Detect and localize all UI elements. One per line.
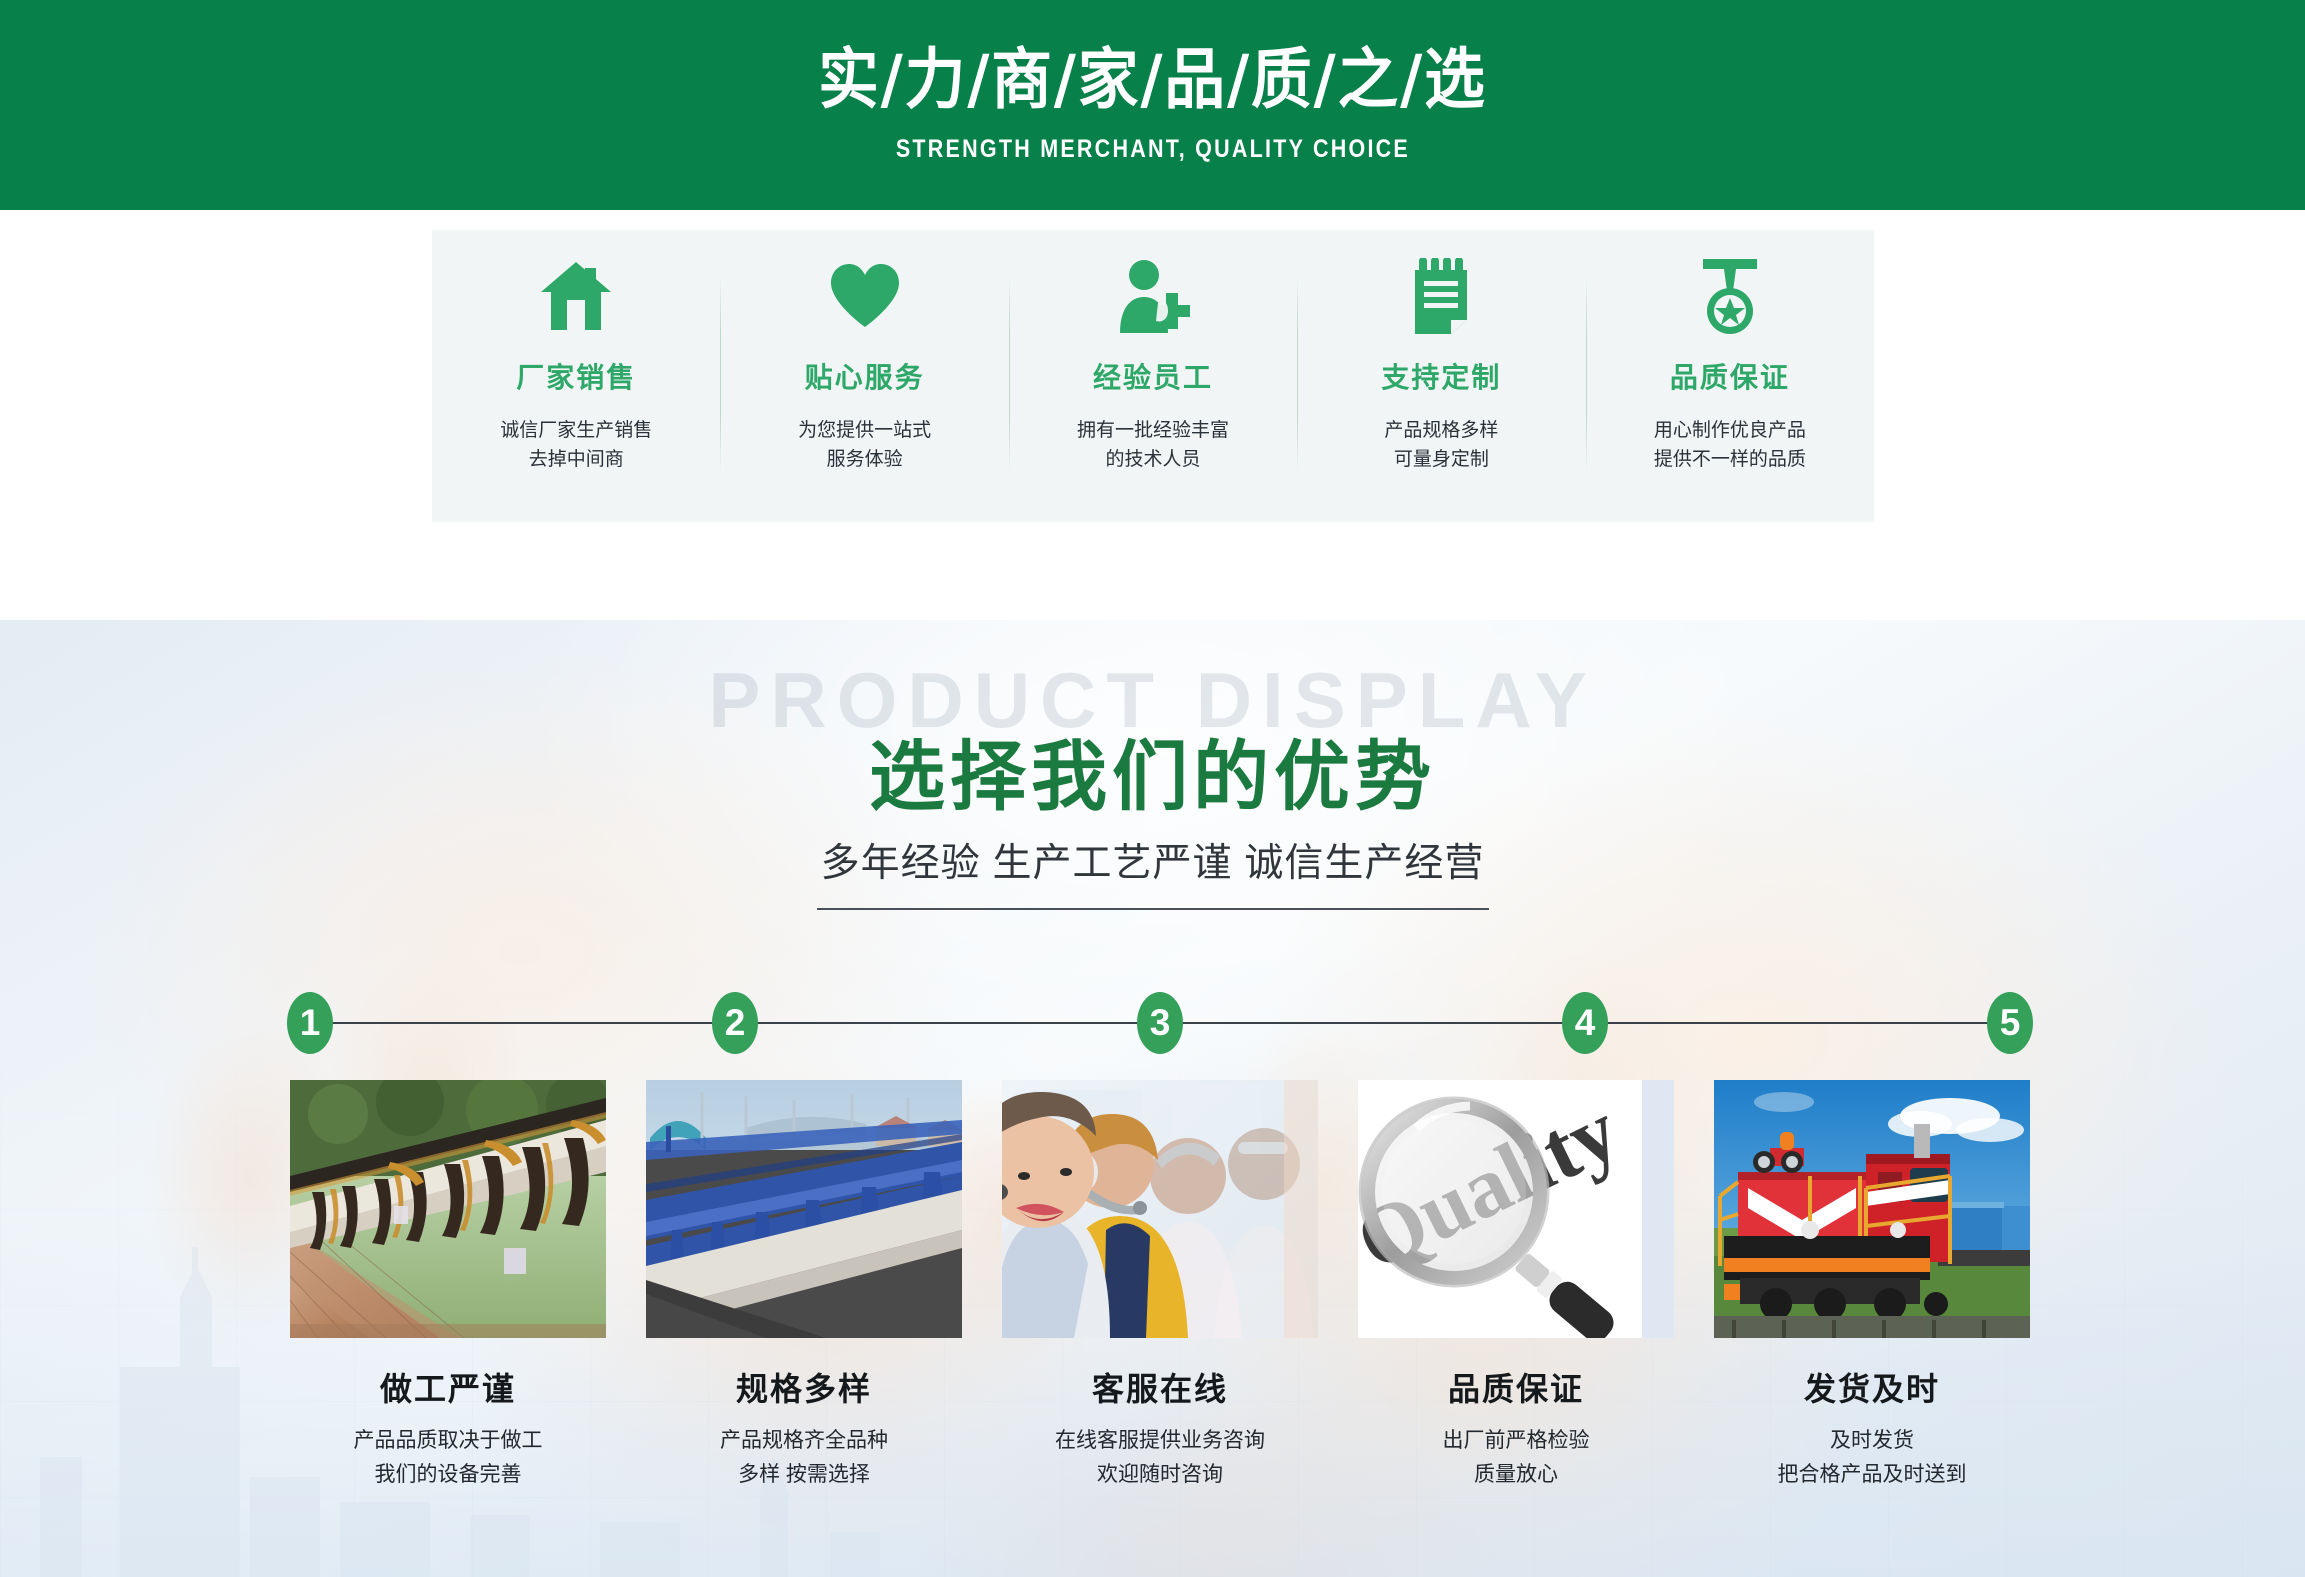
card-desc: 在线客服提供业务咨询 欢迎随时咨询 <box>1002 1424 1318 1491</box>
advantage-card-1[interactable]: 做工严谨 产品品质取决于做工 我们的设备完善 <box>290 1080 606 1491</box>
feature-desc: 用心制作优良产品 提供不一样的品质 <box>1654 416 1806 475</box>
medal-icon <box>1697 258 1763 334</box>
feature-panel: 厂家销售 诚信厂家生产销售 去掉中间商 贴心服务 为您提供一站式 服务体验 <box>432 230 1874 522</box>
heading-divider <box>817 908 1489 910</box>
section-subtitle: 多年经验 生产工艺严谨 诚信生产经营 <box>0 832 2305 888</box>
feature-desc-line2: 去掉中间商 <box>500 445 652 474</box>
card-desc-line2: 质量放心 <box>1358 1458 1674 1492</box>
card-desc-line1: 出厂前严格检验 <box>1358 1424 1674 1458</box>
banner-title: 实/力/商/家/品/质/之/选 <box>818 47 1487 113</box>
user-plus-icon <box>1116 258 1190 334</box>
notepad-icon <box>1411 258 1471 334</box>
card-desc-line2: 我们的设备完善 <box>290 1458 606 1492</box>
heart-icon <box>829 258 901 334</box>
card-desc-line1: 及时发货 <box>1714 1424 2030 1458</box>
feature-desc-line2: 提供不一样的品质 <box>1654 445 1806 474</box>
feature-title: 品质保证 <box>1670 356 1790 396</box>
advantage-section: PRODUCT DISPLAY 选择我们的优势 多年经验 生产工艺严谨 诚信生产… <box>0 620 2305 1577</box>
blue-guardrail-bridge-photo <box>646 1080 962 1338</box>
card-desc-line1: 产品品质取决于做工 <box>290 1424 606 1458</box>
house-icon <box>539 258 613 334</box>
feature-item-custom-support[interactable]: 支持定制 产品规格多样 可量身定制 <box>1297 230 1585 522</box>
feature-desc-line1: 产品规格多样 <box>1384 416 1498 445</box>
card-desc-line2: 多样 按需选择 <box>646 1458 962 1492</box>
feature-title: 贴心服务 <box>805 356 925 396</box>
top-banner: 实/力/商/家/品/质/之/选 STRENGTH MERCHANT, QUALI… <box>0 0 2305 210</box>
timeline-node-3[interactable]: 3 <box>1137 992 1183 1054</box>
card-desc-line1: 在线客服提供业务咨询 <box>1002 1424 1318 1458</box>
feature-desc: 诚信厂家生产销售 去掉中间商 <box>500 416 652 475</box>
section-title: 选择我们的优势 <box>0 715 2305 825</box>
red-freight-train-photo <box>1714 1080 2030 1338</box>
banner-subtitle: STRENGTH MERCHANT, QUALITY CHOICE <box>895 135 1409 164</box>
feature-desc-line1: 用心制作优良产品 <box>1654 416 1806 445</box>
feature-desc-line1: 为您提供一站式 <box>798 416 931 445</box>
advantage-card-4[interactable]: Quality 品质保证 出厂前严格检验 质量放心 <box>1358 1080 1674 1491</box>
customer-service-headset-photo <box>1002 1080 1318 1338</box>
card-title: 客服在线 <box>1002 1364 1318 1410</box>
card-desc-line1: 产品规格齐全品种 <box>646 1424 962 1458</box>
card-desc-line2: 欢迎随时咨询 <box>1002 1458 1318 1492</box>
feature-desc-line2: 可量身定制 <box>1384 445 1498 474</box>
feature-item-considerate-service[interactable]: 贴心服务 为您提供一站式 服务体验 <box>720 230 1008 522</box>
advantage-heading-block: PRODUCT DISPLAY 选择我们的优势 多年经验 生产工艺严谨 诚信生产… <box>0 620 2305 950</box>
feature-desc-line1: 拥有一批经验丰富 <box>1077 416 1229 445</box>
card-desc: 出厂前严格检验 质量放心 <box>1358 1424 1674 1491</box>
advantage-card-2[interactable]: 规格多样 产品规格齐全品种 多样 按需选择 <box>646 1080 962 1491</box>
feature-title: 经验员工 <box>1093 356 1213 396</box>
card-title: 做工严谨 <box>290 1364 606 1410</box>
feature-item-factory-sales[interactable]: 厂家销售 诚信厂家生产销售 去掉中间商 <box>432 230 720 522</box>
advantage-card-5[interactable]: 发货及时 及时发货 把合格产品及时送到 <box>1714 1080 2030 1491</box>
feature-title: 厂家销售 <box>516 356 636 396</box>
timeline-node-4[interactable]: 4 <box>1562 992 1608 1054</box>
timeline-node-1[interactable]: 1 <box>287 992 333 1054</box>
feature-item-experienced-staff[interactable]: 经验员工 拥有一批经验丰富 的技术人员 <box>1009 230 1297 522</box>
feature-desc-line2: 的技术人员 <box>1077 445 1229 474</box>
feature-desc: 拥有一批经验丰富 的技术人员 <box>1077 416 1229 475</box>
timeline-node-2[interactable]: 2 <box>712 992 758 1054</box>
feature-title: 支持定制 <box>1381 356 1501 396</box>
card-desc: 产品规格齐全品种 多样 按需选择 <box>646 1424 962 1491</box>
step-timeline: 1 2 3 4 5 <box>310 992 2010 1054</box>
feature-strip-section: 厂家销售 诚信厂家生产销售 去掉中间商 贴心服务 为您提供一站式 服务体验 <box>0 210 2305 620</box>
advantage-card-3[interactable]: 客服在线 在线客服提供业务咨询 欢迎随时咨询 <box>1002 1080 1318 1491</box>
feature-desc: 为您提供一站式 服务体验 <box>798 416 931 475</box>
card-title: 发货及时 <box>1714 1364 2030 1410</box>
card-desc: 产品品质取决于做工 我们的设备完善 <box>290 1424 606 1491</box>
card-title: 品质保证 <box>1358 1364 1674 1410</box>
feature-item-quality-guarantee[interactable]: 品质保证 用心制作优良产品 提供不一样的品质 <box>1586 230 1874 522</box>
quality-magnifier-photo: Quality <box>1358 1080 1674 1338</box>
advantage-card-row: 做工严谨 产品品质取决于做工 我们的设备完善 <box>290 1080 2030 1500</box>
feature-desc: 产品规格多样 可量身定制 <box>1384 416 1498 475</box>
card-title: 规格多样 <box>646 1364 962 1410</box>
timeline-node-5[interactable]: 5 <box>1987 992 2033 1054</box>
card-desc-line2: 把合格产品及时送到 <box>1714 1458 2030 1492</box>
bridge-railing-decorative-photo <box>290 1080 606 1338</box>
feature-desc-line1: 诚信厂家生产销售 <box>500 416 652 445</box>
feature-desc-line2: 服务体验 <box>798 445 931 474</box>
card-desc: 及时发货 把合格产品及时送到 <box>1714 1424 2030 1491</box>
